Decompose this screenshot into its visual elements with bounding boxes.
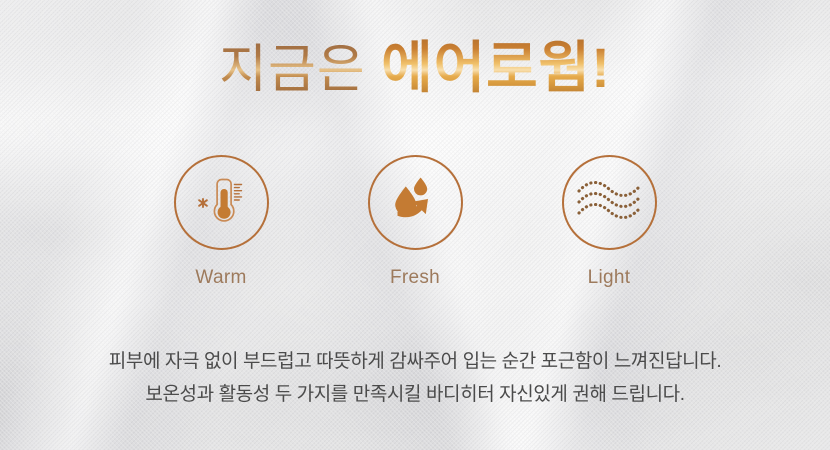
- feature-item-warm[interactable]: Warm: [151, 155, 291, 289]
- banner-content: 지금은 에어로웜!: [0, 0, 830, 450]
- feature-circle-light: [562, 155, 657, 250]
- feature-circle-warm: [174, 155, 269, 250]
- water-drop-arrow-icon: [384, 169, 446, 236]
- headline: 지금은 에어로웜!: [0, 40, 830, 96]
- body-copy: 피부에 자극 없이 부드럽고 따뜻하게 감싸주어 입는 순간 포근함이 느껴진답…: [0, 345, 830, 411]
- feature-label-light: Light: [588, 267, 631, 289]
- dotted-airflow-waves-icon: [576, 175, 642, 230]
- headline-bold-text: 에어로웜!: [381, 36, 611, 99]
- headline-light-text: 지금은: [219, 41, 381, 99]
- feature-list: Warm: [0, 155, 830, 289]
- feature-item-light[interactable]: Light: [539, 155, 679, 289]
- promo-banner: 지금은 에어로웜!: [0, 0, 830, 450]
- feature-item-fresh[interactable]: Fresh: [345, 155, 485, 289]
- feature-label-warm: Warm: [195, 267, 246, 289]
- thermometer-snowflake-icon: [190, 169, 252, 236]
- body-copy-line-1: 피부에 자극 없이 부드럽고 따뜻하게 감싸주어 입는 순간 포근함이 느껴진답…: [0, 345, 830, 378]
- feature-label-fresh: Fresh: [390, 267, 440, 289]
- feature-circle-fresh: [368, 155, 463, 250]
- body-copy-line-2: 보온성과 활동성 두 가지를 만족시킬 바디히터 자신있게 권해 드립니다.: [0, 378, 830, 411]
